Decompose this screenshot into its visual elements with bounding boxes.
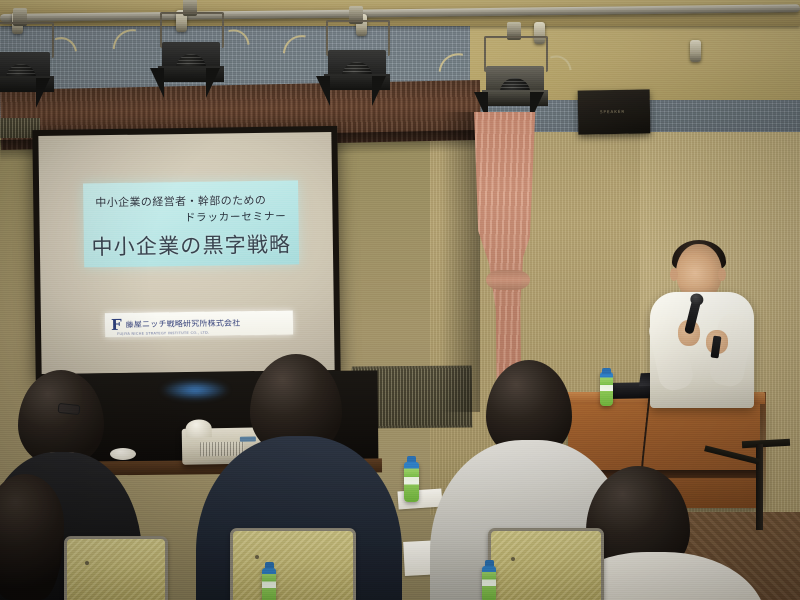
- chair-stud: [255, 555, 259, 559]
- barn-door-left: [150, 68, 164, 98]
- wall-speaker: SPEAKER: [578, 89, 651, 134]
- projector-lens-dome-icon: [186, 419, 212, 437]
- projection-screen: 中小企業の経営者・幹部のための ドラッカーセミナー 中小企業の黒字戦略 F 藤屋…: [32, 126, 340, 380]
- track-stub-5: [690, 40, 701, 62]
- chair-2: [230, 528, 356, 600]
- table-leg: [756, 444, 763, 530]
- logo-company-subtext: FUJIYA NICHE STRATEGY INSTITUTE CO., LTD…: [117, 331, 209, 336]
- tea-bottle-3: [482, 566, 496, 600]
- tea-bottle-cap: [602, 368, 611, 374]
- logo-company-name: 藤屋ニッチ戦略研究所株式会社: [126, 319, 241, 329]
- glasses-icon: [58, 403, 81, 415]
- logo-mark-icon: F: [111, 317, 122, 332]
- tea-bottle-cap: [485, 560, 494, 566]
- seminar-photo: SPEAKER 中小企業の経営者・幹部のための ドラッカーセミナー 中小企業の黒…: [0, 0, 800, 600]
- chair-3: [488, 528, 604, 600]
- tea-bottle-cap: [407, 456, 416, 462]
- head: [0, 474, 64, 600]
- curtain-shadow: [440, 112, 480, 412]
- slide-main-title: 中小企業の黒字戦略: [84, 228, 299, 261]
- speaker-brand-label: SPEAKER: [600, 109, 625, 114]
- screen-surface: 中小企業の経営者・幹部のための ドラッカーセミナー 中小企業の黒字戦略 F 藤屋…: [38, 132, 334, 374]
- barn-door-right: [372, 76, 386, 106]
- tea-bottle-2: [262, 568, 276, 600]
- chair-stud: [85, 561, 89, 565]
- tea-bottle-cap: [265, 562, 274, 568]
- tea-bottle-podium: [600, 372, 613, 406]
- company-logo: F 藤屋ニッチ戦略研究所株式会社 FUJIYA NICHE STRATEGY I…: [105, 311, 293, 338]
- projector-port: [240, 436, 256, 441]
- slide-subtitle-line-1: 中小企業の経営者・幹部のための: [95, 192, 266, 210]
- presenter-ear: [670, 268, 678, 281]
- small-dish: [110, 448, 136, 460]
- slide-subtitle-line-2: ドラッカーセミナー: [185, 209, 287, 225]
- chair-1: [64, 536, 168, 600]
- curtain-tieback: [486, 270, 530, 290]
- chair-stud: [511, 557, 515, 561]
- presenter-ear: [718, 268, 726, 281]
- presentation-slide: 中小企業の経営者・幹部のための ドラッカーセミナー 中小企業の黒字戦略: [83, 180, 299, 267]
- projector-beam-glow: [160, 380, 230, 400]
- tea-bottle-1: [404, 462, 419, 502]
- barn-door-left: [316, 76, 330, 106]
